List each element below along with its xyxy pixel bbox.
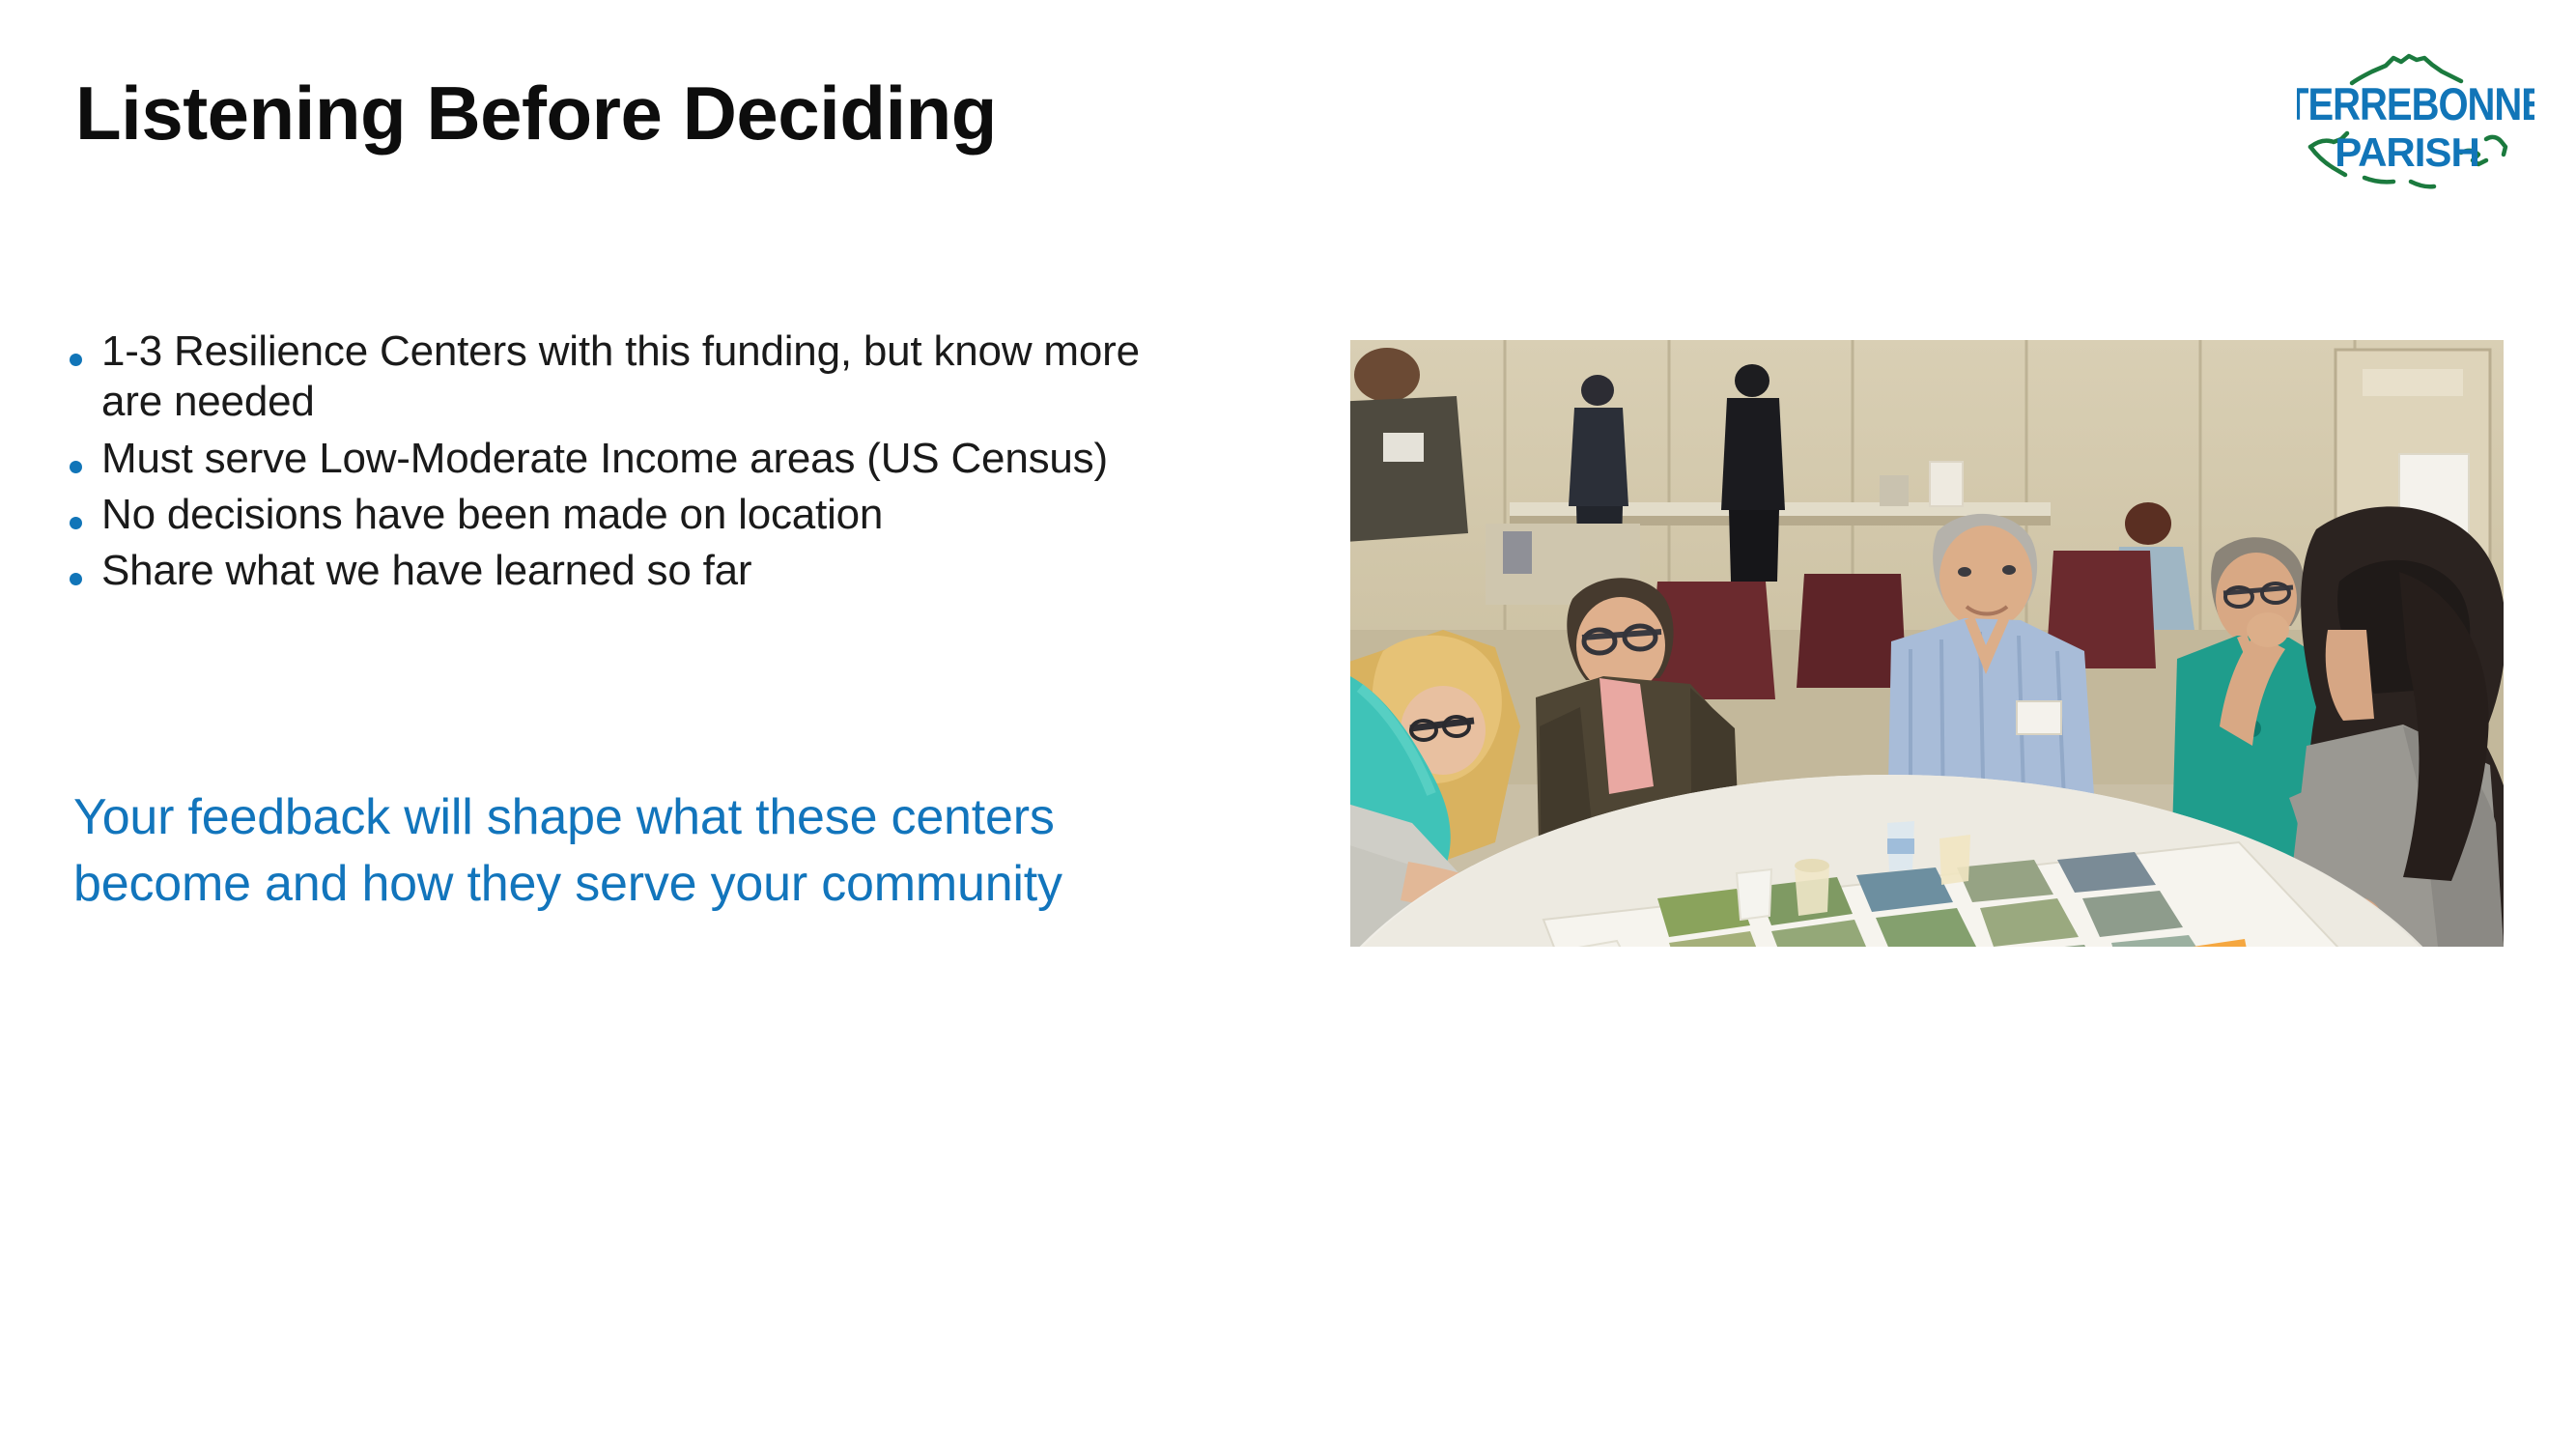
callout-text: Your feedback will shape what these cent… <box>73 784 1223 917</box>
bullet-dot-icon <box>70 461 82 473</box>
page-title: Listening Before Deciding <box>75 70 997 157</box>
bullet-item-label: No decisions have been made on location <box>101 490 883 540</box>
list-item: Share what we have learned so far <box>70 546 1209 596</box>
bullet-item-label: 1-3 Resilience Centers with this funding… <box>101 327 1209 428</box>
bullet-item-label: Must serve Low-Moderate Income areas (US… <box>101 434 1108 484</box>
slide-canvas: Listening Before Deciding TERREBONNE PAR… <box>0 0 2576 1449</box>
workshop-photo <box>1350 340 2504 947</box>
bullet-dot-icon <box>70 354 82 366</box>
bullet-dot-icon <box>70 573 82 585</box>
svg-text:PARISH: PARISH <box>2335 129 2479 175</box>
bullet-list: 1-3 Resilience Centers with this funding… <box>70 327 1209 603</box>
bullet-dot-icon <box>70 517 82 529</box>
bullet-item-label: Share what we have learned so far <box>101 546 751 596</box>
list-item: 1-3 Resilience Centers with this funding… <box>70 327 1209 428</box>
terrebonne-parish-logo: TERREBONNE PARISH <box>2297 46 2534 193</box>
svg-text:TERREBONNE: TERREBONNE <box>2297 79 2534 130</box>
list-item: Must serve Low-Moderate Income areas (US… <box>70 434 1209 484</box>
list-item: No decisions have been made on location <box>70 490 1209 540</box>
